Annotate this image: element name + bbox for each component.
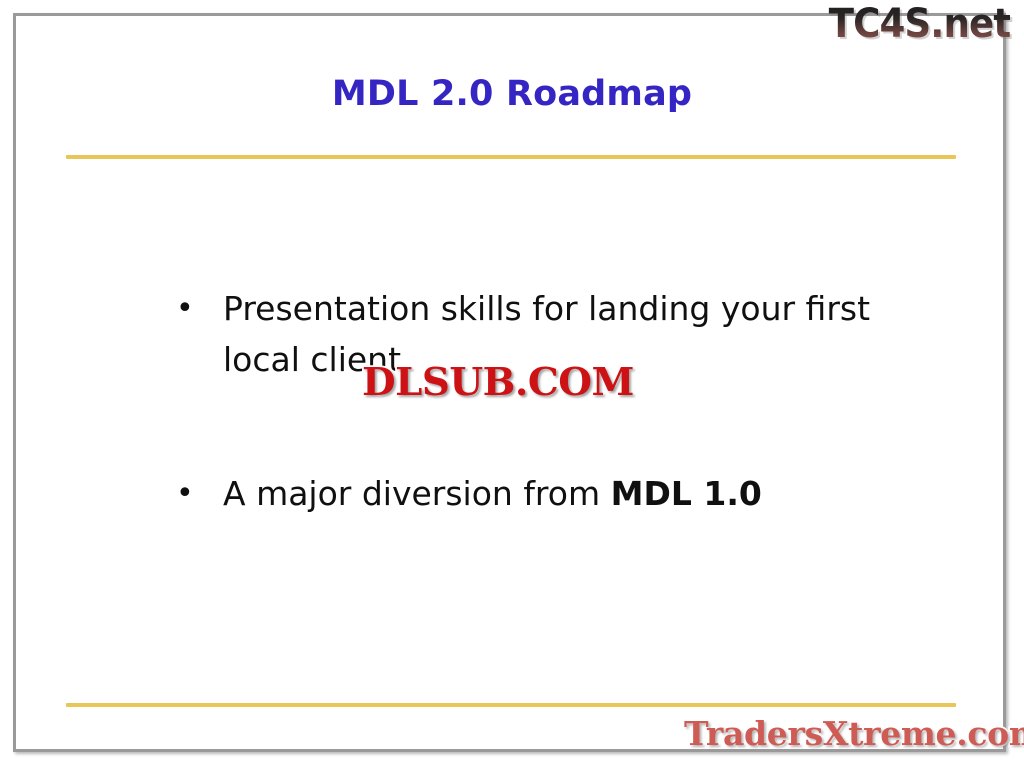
bullet-marker-icon: • xyxy=(176,283,196,334)
list-item: • A major diversion from MDL 1.0 xyxy=(168,468,908,519)
watermark-tradersxtreme: TradersXtreme.com xyxy=(684,714,1024,754)
list-item-emphasis: MDL 1.0 xyxy=(611,474,762,513)
page-title: MDL 2.0 Roadmap xyxy=(0,72,1024,116)
bullet-marker-icon: • xyxy=(176,468,196,519)
watermark-dlsub: DLSUB.COM xyxy=(362,361,634,403)
divider-rule-bottom xyxy=(66,703,956,707)
divider-rule-top xyxy=(66,155,956,159)
list-item-text: A major diversion from xyxy=(223,474,611,513)
slide-root: MDL 2.0 Roadmap • Presentation skills fo… xyxy=(0,0,1024,768)
watermark-tc4s: TC4S.net xyxy=(828,2,1010,46)
